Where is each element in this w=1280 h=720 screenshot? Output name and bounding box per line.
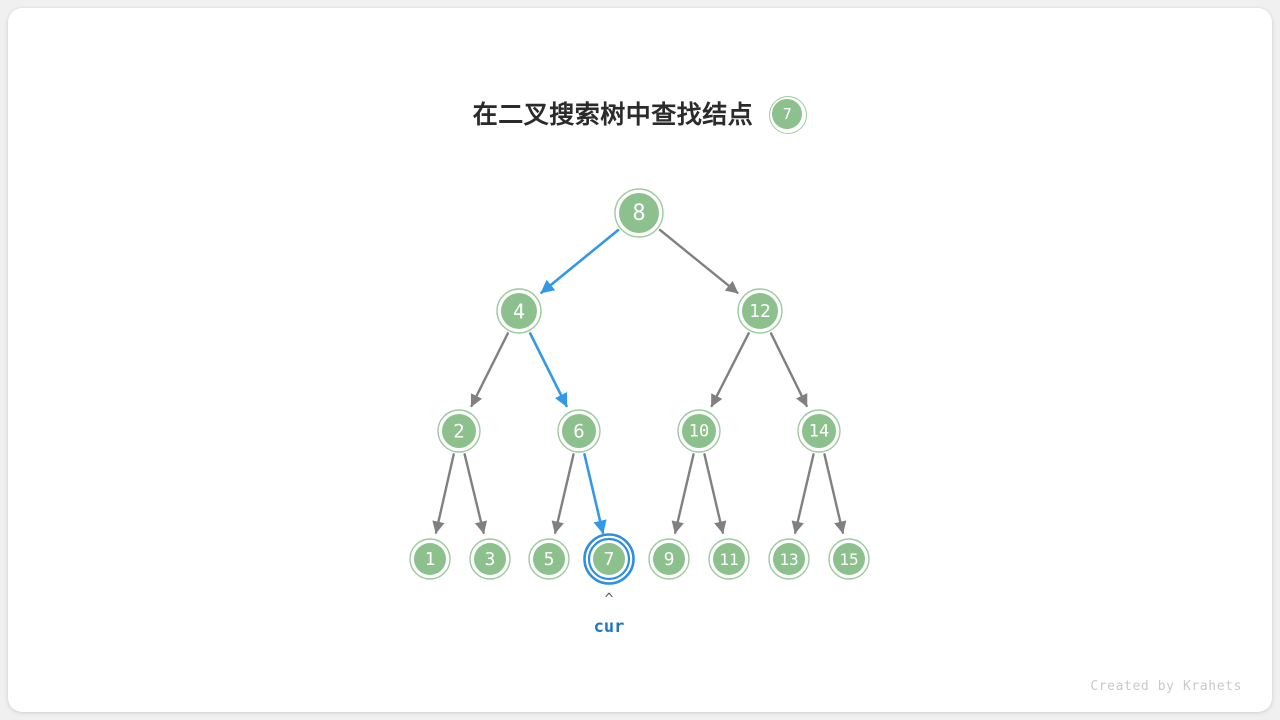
tree-node: 14 (798, 410, 840, 452)
tree-edge (555, 454, 573, 532)
node-value: 13 (779, 550, 798, 569)
tree-node: 15 (829, 539, 869, 579)
tree-nodes: 841226101413579111315 (410, 189, 869, 584)
tree-node: 8 (615, 189, 663, 237)
tree-node: 11 (709, 539, 749, 579)
tree-edge (704, 454, 722, 532)
tree-edges (436, 230, 843, 533)
tree-edge (675, 454, 693, 532)
node-value: 10 (689, 422, 709, 442)
caret-icon: ^ (604, 590, 613, 608)
tree-node: 10 (678, 410, 720, 452)
tree-node: 9 (649, 539, 689, 579)
tree-node: 5 (529, 539, 569, 579)
tree-edge (541, 230, 618, 293)
node-value: 2 (453, 421, 464, 443)
node-value: 8 (632, 201, 645, 226)
node-value: 4 (513, 300, 525, 324)
node-value: 6 (573, 421, 584, 443)
node-value: 15 (839, 550, 858, 569)
tree-node: 6 (558, 410, 600, 452)
tree-diagram-svg: 841226101413579111315 ^ cur (8, 8, 1272, 712)
tree-edge (712, 333, 749, 406)
node-value: 7 (604, 549, 615, 570)
tree-edge (795, 454, 813, 532)
cur-pointer-label: cur (594, 617, 625, 637)
tree-edge (530, 333, 566, 406)
tree-node: 7 (585, 535, 634, 584)
node-value: 11 (719, 550, 738, 569)
node-value: 9 (664, 549, 675, 570)
node-value: 1 (425, 549, 436, 570)
tree-edge (824, 454, 842, 532)
tree-node: 3 (470, 539, 510, 579)
tree-node: 2 (438, 410, 480, 452)
node-value: 14 (809, 422, 829, 442)
tree-edge (472, 333, 508, 406)
tree-edge (436, 454, 454, 532)
node-value: 3 (485, 549, 496, 570)
node-value: 12 (749, 301, 771, 322)
tree-edge (584, 454, 602, 532)
tree-edge (771, 333, 807, 405)
diagram-stage: 841226101413579111315 ^ cur 在二叉搜索树中查找结点 … (8, 8, 1272, 712)
cur-pointer: ^ cur (594, 590, 625, 637)
tree-edge (660, 230, 737, 293)
tree-node: 1 (410, 539, 450, 579)
credit-text: Created by Krahets (1090, 679, 1242, 694)
diagram-card: 841226101413579111315 ^ cur 在二叉搜索树中查找结点 … (8, 8, 1272, 712)
node-value: 5 (544, 549, 555, 570)
tree-node: 12 (738, 289, 782, 333)
tree-edge (465, 454, 484, 532)
tree-node: 4 (497, 289, 541, 333)
tree-node: 13 (769, 539, 809, 579)
